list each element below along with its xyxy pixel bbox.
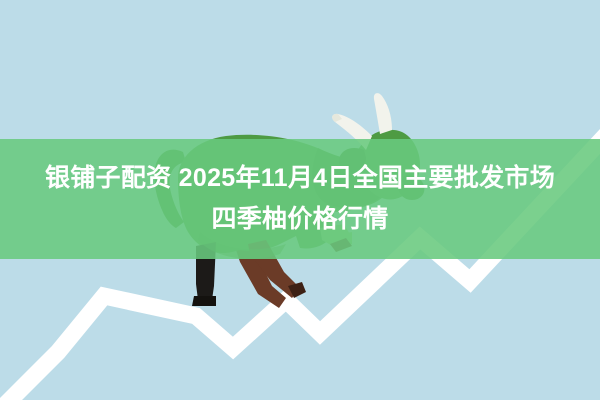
bull-rear-near-hoof [192,296,216,306]
title-line-1: 银铺子配资 2025年11月4日全国主要批发市场 [45,158,555,199]
title-line-2: 四季柚价格行情 [211,199,388,240]
poster-canvas: 银铺子配资 2025年11月4日全国主要批发市场 四季柚价格行情 [0,0,600,400]
title-band: 银铺子配资 2025年11月4日全国主要批发市场 四季柚价格行情 [0,139,600,259]
bull-horn-right [374,93,392,134]
